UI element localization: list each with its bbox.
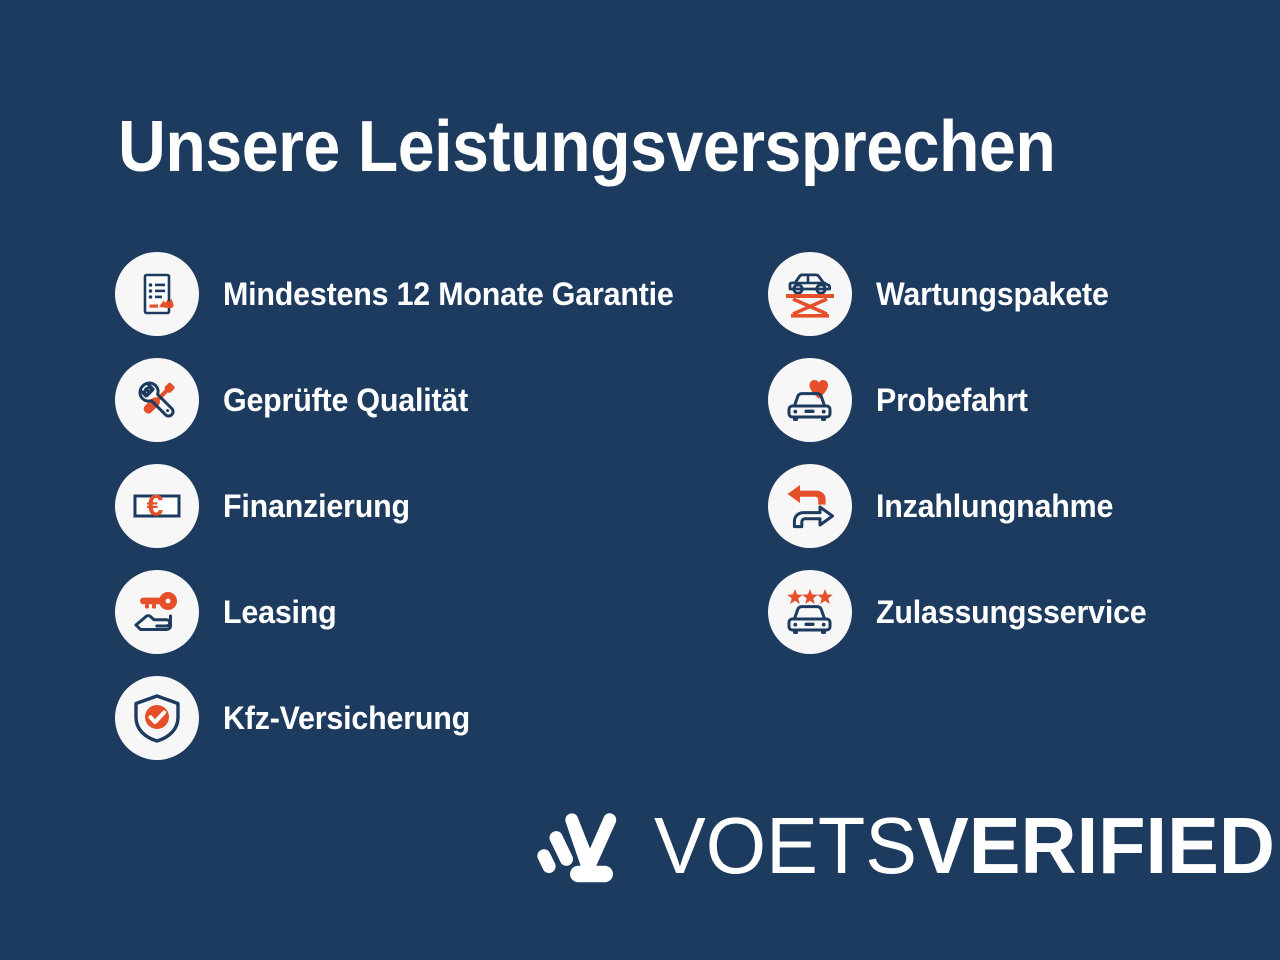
car-lift-icon — [782, 267, 838, 321]
feature-label: Finanzierung — [223, 488, 410, 524]
feature-label: Mindestens 12 Monate Garantie — [223, 276, 674, 312]
feature-label: Probefahrt — [876, 382, 1028, 418]
feature-item: Inzahlungnahme — [768, 464, 1268, 548]
feature-item: Probefahrt — [768, 358, 1268, 442]
icon-badge — [768, 464, 852, 548]
svg-text:€: € — [147, 490, 164, 523]
icon-badge: € — [115, 464, 199, 548]
document-checklist-wrench-icon — [132, 269, 182, 319]
car-stars-icon — [783, 587, 837, 637]
feature-label: Kfz-Versicherung — [223, 700, 470, 736]
logo-text-verified: VERIFIED — [917, 801, 1275, 890]
icon-badge-row: Leasing — [115, 570, 755, 654]
icon-badge — [768, 570, 852, 654]
feature-column-right: Wartungspakete — [768, 252, 1268, 654]
feature-item: Zulassungsservice — [768, 570, 1268, 654]
feature-item: Mindestens 12 Monate Garantie — [115, 252, 755, 336]
icon-badge — [768, 252, 852, 336]
icon-badge — [115, 252, 199, 336]
car-heart-icon — [783, 375, 837, 425]
brand-logo: VOETSVERIFIED — [536, 800, 1280, 892]
icon-badge — [115, 570, 199, 654]
feature-item: Kfz-Versicherung — [115, 676, 755, 760]
feature-item: Geprüfte Qualität — [115, 358, 755, 442]
feature-item: € Finanzierung — [115, 464, 755, 548]
page-title: Unsere Leistungsversprechen — [118, 104, 1102, 190]
hand-key-icon — [130, 585, 184, 639]
feature-label: Zulassungsservice — [876, 594, 1147, 630]
feature-column-left: Mindestens 12 Monate Garantie — [115, 252, 755, 760]
feature-item: Wartungspakete — [768, 252, 1268, 336]
promise-banner: Unsere Leistungsversprechen — [0, 0, 1280, 960]
feature-label: Wartungspakete — [876, 276, 1109, 312]
exchange-arrows-icon — [784, 481, 836, 531]
logo-wordmark: VOETSVERIFIED — [654, 804, 1275, 888]
logo-text-voets: VOETS — [654, 801, 917, 890]
feature-label: Geprüfte Qualität — [223, 382, 468, 418]
voets-v-checkmark-icon — [536, 800, 628, 892]
banknote-euro-icon: € — [130, 479, 184, 533]
wrench-screwdriver-icon — [131, 374, 183, 426]
icon-badge — [115, 676, 199, 760]
icon-badge — [768, 358, 852, 442]
feature-label: Inzahlungnahme — [876, 488, 1113, 524]
shield-check-icon — [131, 692, 183, 744]
icon-badge — [115, 358, 199, 442]
feature-label: Leasing — [223, 594, 337, 630]
